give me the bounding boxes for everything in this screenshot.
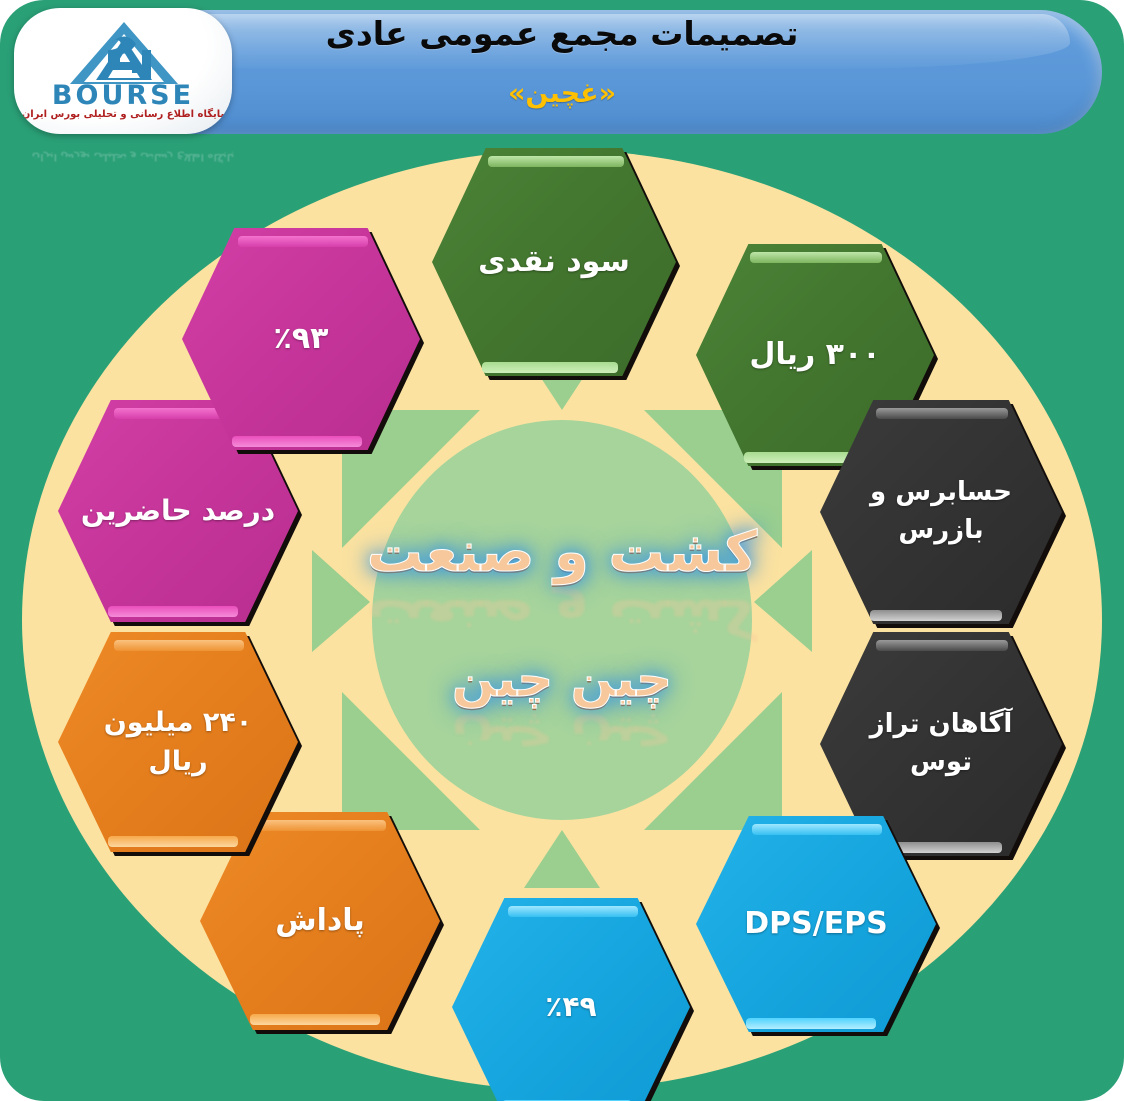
center-title-line1: کشت و صنعت: [0, 520, 1124, 585]
hexagon-label: ٪۹۳: [258, 317, 345, 361]
center-title-line2: چین چین: [0, 650, 1124, 708]
logo-tagline-reflection: پایگاه اطلاع رسانی و تحلیلی بورس ایران: [28, 140, 238, 162]
hexagon-label: پاداش: [259, 899, 381, 943]
bourse24-logo[interactable]: BOURSE پایگاه اطلاع رسانی و تحلیلی بورس …: [14, 8, 232, 134]
hexagon-label: ٪۴۹: [529, 987, 612, 1028]
hexagon-label: ۳۰۰ ریال: [733, 333, 896, 377]
infographic-canvas: سود نقدی ۳۰۰ ریال حسابرس و بازرس آگاهان …: [0, 0, 1124, 1101]
hexagon-label: DPS/EPS: [728, 902, 904, 946]
hexagon-label: سود نقدی: [462, 240, 646, 284]
center-title-line1-reflection: کشت و صنعت: [0, 586, 1124, 651]
logo-tagline: پایگاه اطلاع رسانی و تحلیلی بورس ایران: [14, 109, 232, 120]
center-title-line2-reflection: چین چین: [0, 714, 1124, 772]
logo-wordmark: BOURSE: [14, 80, 232, 111]
bourse-mountain-icon: [66, 20, 182, 86]
